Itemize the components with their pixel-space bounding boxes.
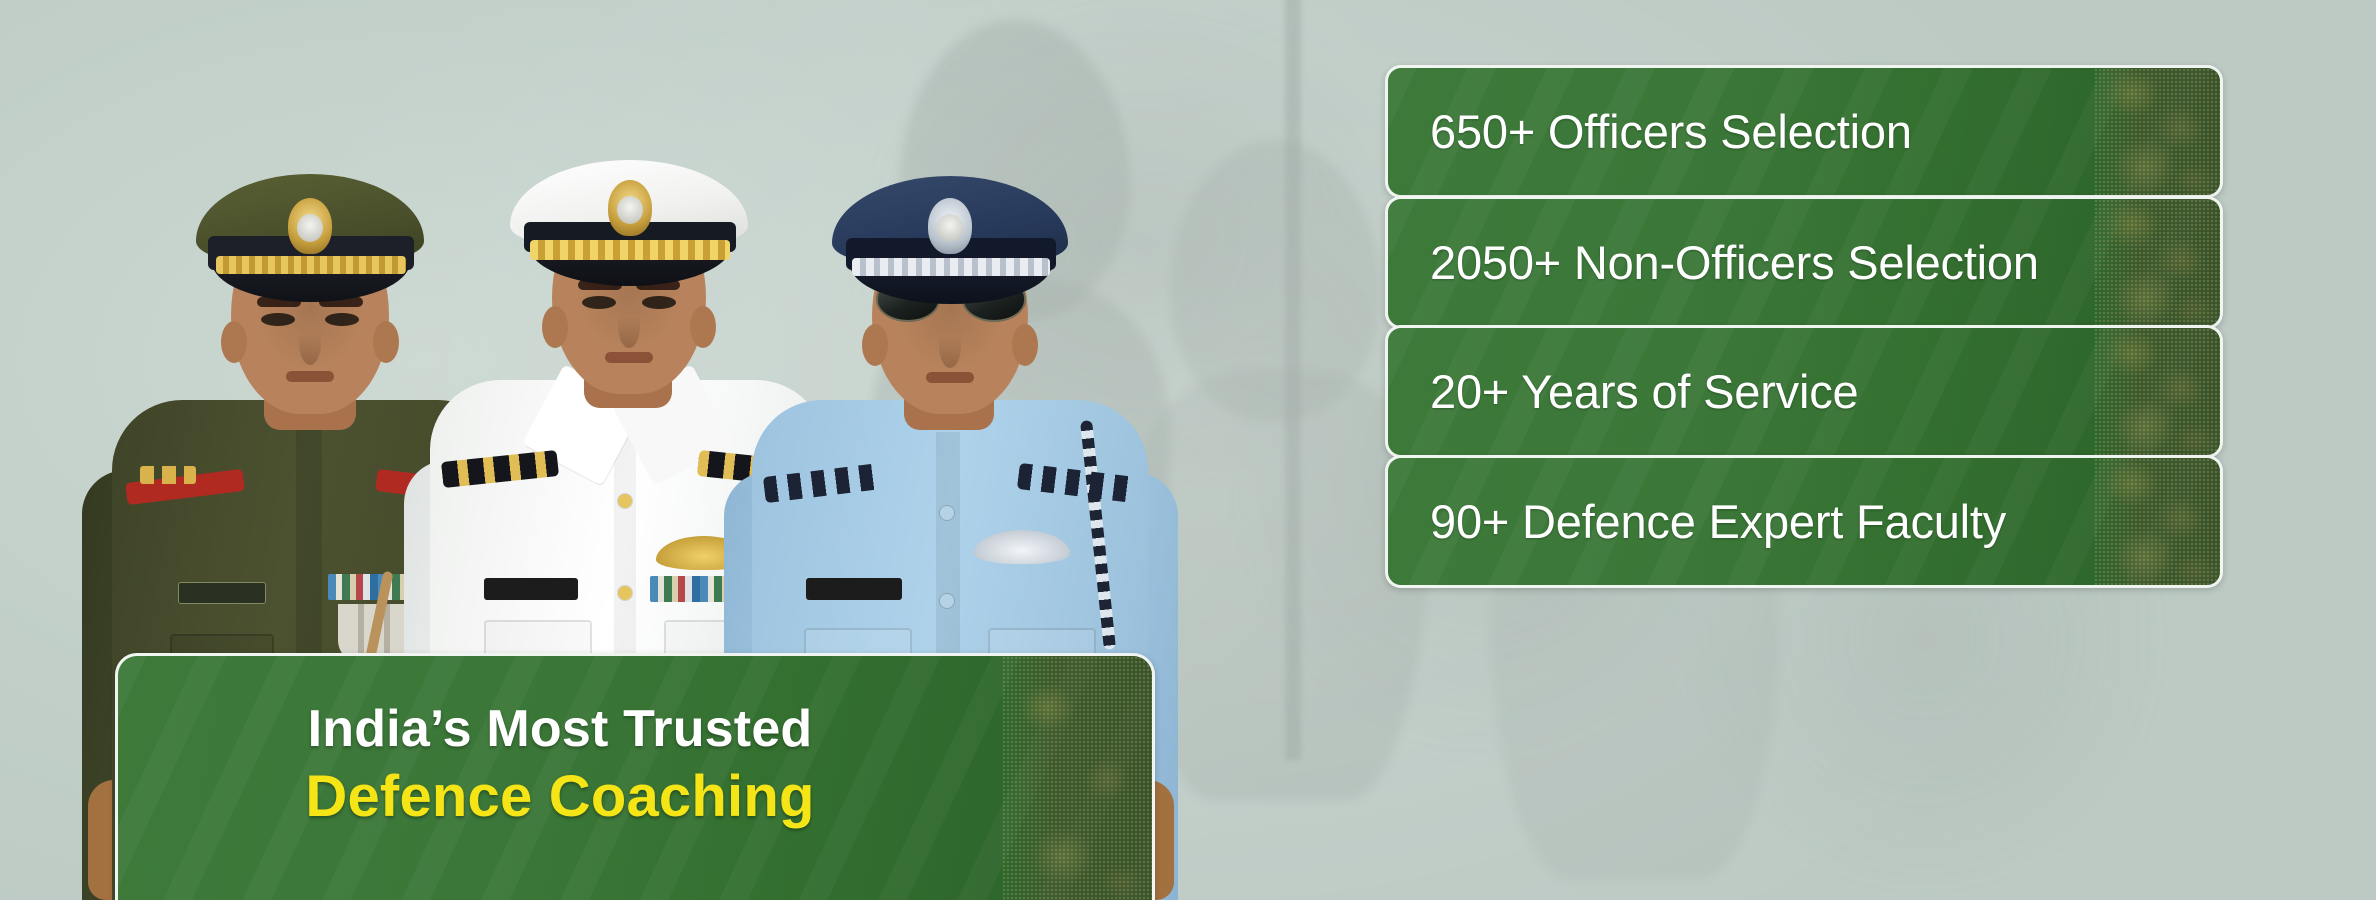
army-ear-left: [221, 321, 247, 363]
army-rank-pips-left: [140, 466, 196, 484]
stat-card-texture: [2094, 68, 2220, 195]
headline-line-1: India’s Most Trusted: [118, 700, 1002, 758]
airforce-cap-badge-icon: [928, 198, 972, 254]
navy-nose: [618, 304, 640, 348]
airforce-button-1: [940, 506, 954, 520]
army-eye-left: [261, 313, 295, 326]
stats-list: 650+ Officers Selection 2050+ Non-Office…: [1385, 0, 2225, 900]
stat-card-label: 90+ Defence Expert Faculty: [1430, 494, 2006, 549]
navy-button-1: [618, 494, 632, 508]
hero-banner: India’s Most Trusted Defence Coaching 65…: [0, 0, 2376, 900]
airforce-cap-silver-braid: [852, 258, 1050, 276]
army-cap-gold-braid: [216, 256, 406, 274]
headline-card: India’s Most Trusted Defence Coaching: [115, 653, 1155, 900]
headline-text-group: India’s Most Trusted Defence Coaching: [118, 656, 1152, 831]
stat-card-label: 650+ Officers Selection: [1430, 104, 1912, 159]
navy-button-2: [618, 586, 632, 600]
navy-cap-badge-icon: [608, 180, 652, 236]
stat-card-expert-faculty[interactable]: 90+ Defence Expert Faculty: [1385, 455, 2223, 588]
headline-line-2: Defence Coaching: [118, 764, 1002, 831]
airforce-nose: [939, 324, 961, 368]
airforce-button-2: [940, 594, 954, 608]
navy-eye-left: [582, 296, 616, 309]
army-mouth: [286, 371, 334, 382]
navy-eye-right: [642, 296, 676, 309]
army-eye-right: [325, 313, 359, 326]
navy-nametag: [484, 578, 578, 600]
navy-ear-left: [542, 306, 568, 348]
airforce-mouth: [926, 372, 974, 383]
stat-card-texture: [2094, 199, 2220, 326]
stat-card-texture: [2094, 328, 2220, 455]
navy-mouth: [605, 352, 653, 363]
army-nametag: [178, 582, 266, 604]
airforce-ear-left: [862, 324, 888, 366]
stat-card-texture: [2094, 458, 2220, 585]
navy-ear-right: [690, 306, 716, 348]
army-nose: [299, 321, 321, 365]
stat-card-non-officers-selection[interactable]: 2050+ Non-Officers Selection: [1385, 196, 2223, 329]
stat-card-years-of-service[interactable]: 20+ Years of Service: [1385, 325, 2223, 458]
stat-card-label: 20+ Years of Service: [1430, 364, 1858, 419]
ghost-flag-pole: [1285, 0, 1301, 760]
army-ear-right: [373, 321, 399, 363]
navy-cap-gold-braid: [530, 240, 730, 260]
stat-card-officers-selection[interactable]: 650+ Officers Selection: [1385, 65, 2223, 198]
airforce-ear-right: [1012, 324, 1038, 366]
airforce-nametag: [806, 578, 902, 600]
stat-card-label: 2050+ Non-Officers Selection: [1430, 235, 2039, 290]
army-cap-badge-icon: [288, 198, 332, 254]
